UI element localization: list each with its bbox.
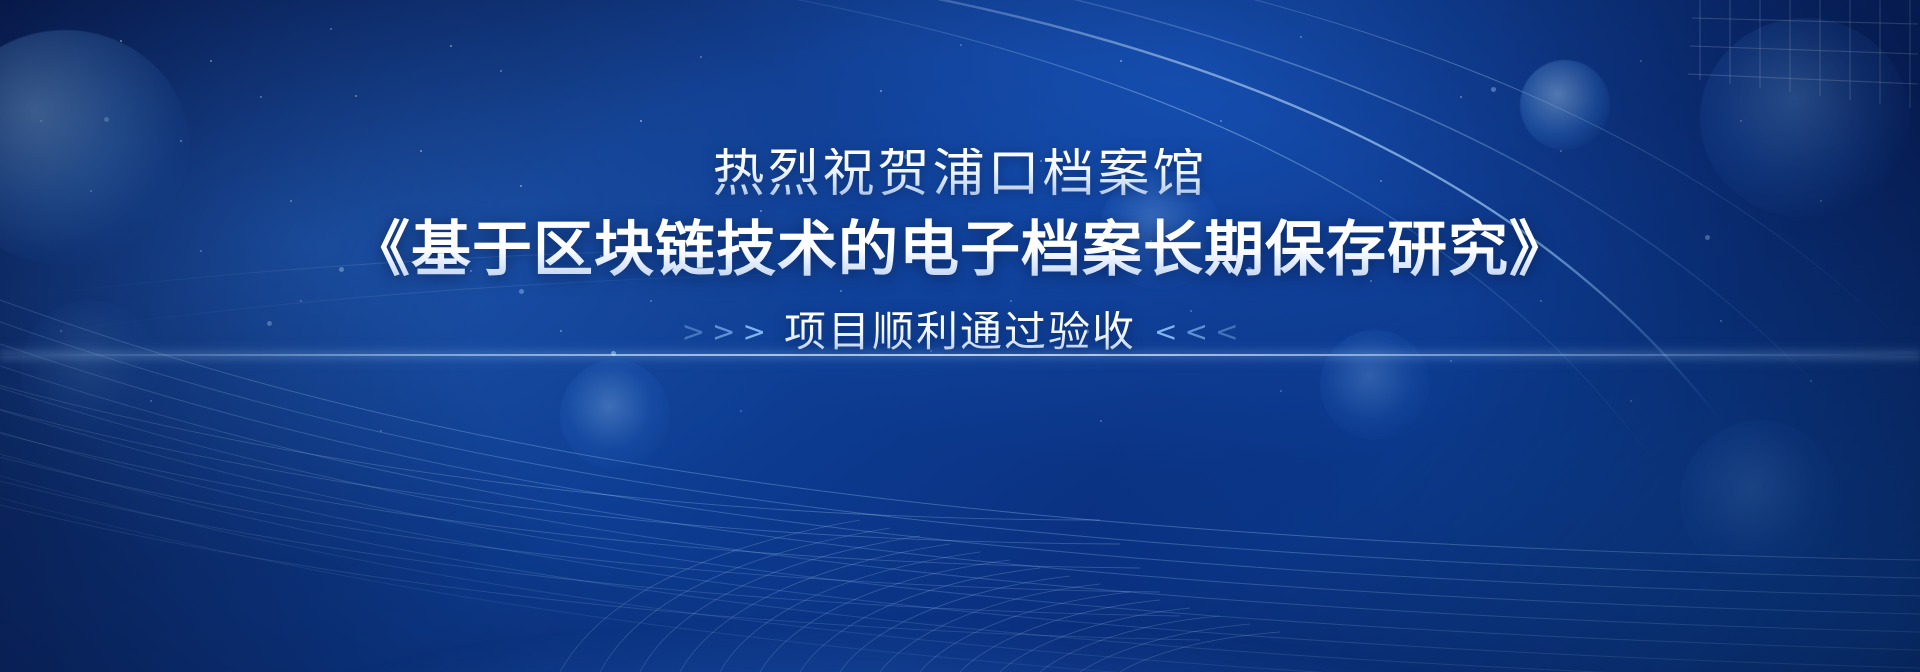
banner-headline: 热烈祝贺浦口档案馆 [712, 148, 1207, 200]
bottom-light-effect [0, 342, 1920, 672]
bottom-glow [0, 502, 1920, 672]
banner-project-title: 《基于区块链技术的电子档案长期保存研究》 [350, 218, 1570, 283]
celebration-banner: 热烈祝贺浦口档案馆 《基于区块链技术的电子档案长期保存研究》 > > > 项目顺… [0, 0, 1920, 672]
